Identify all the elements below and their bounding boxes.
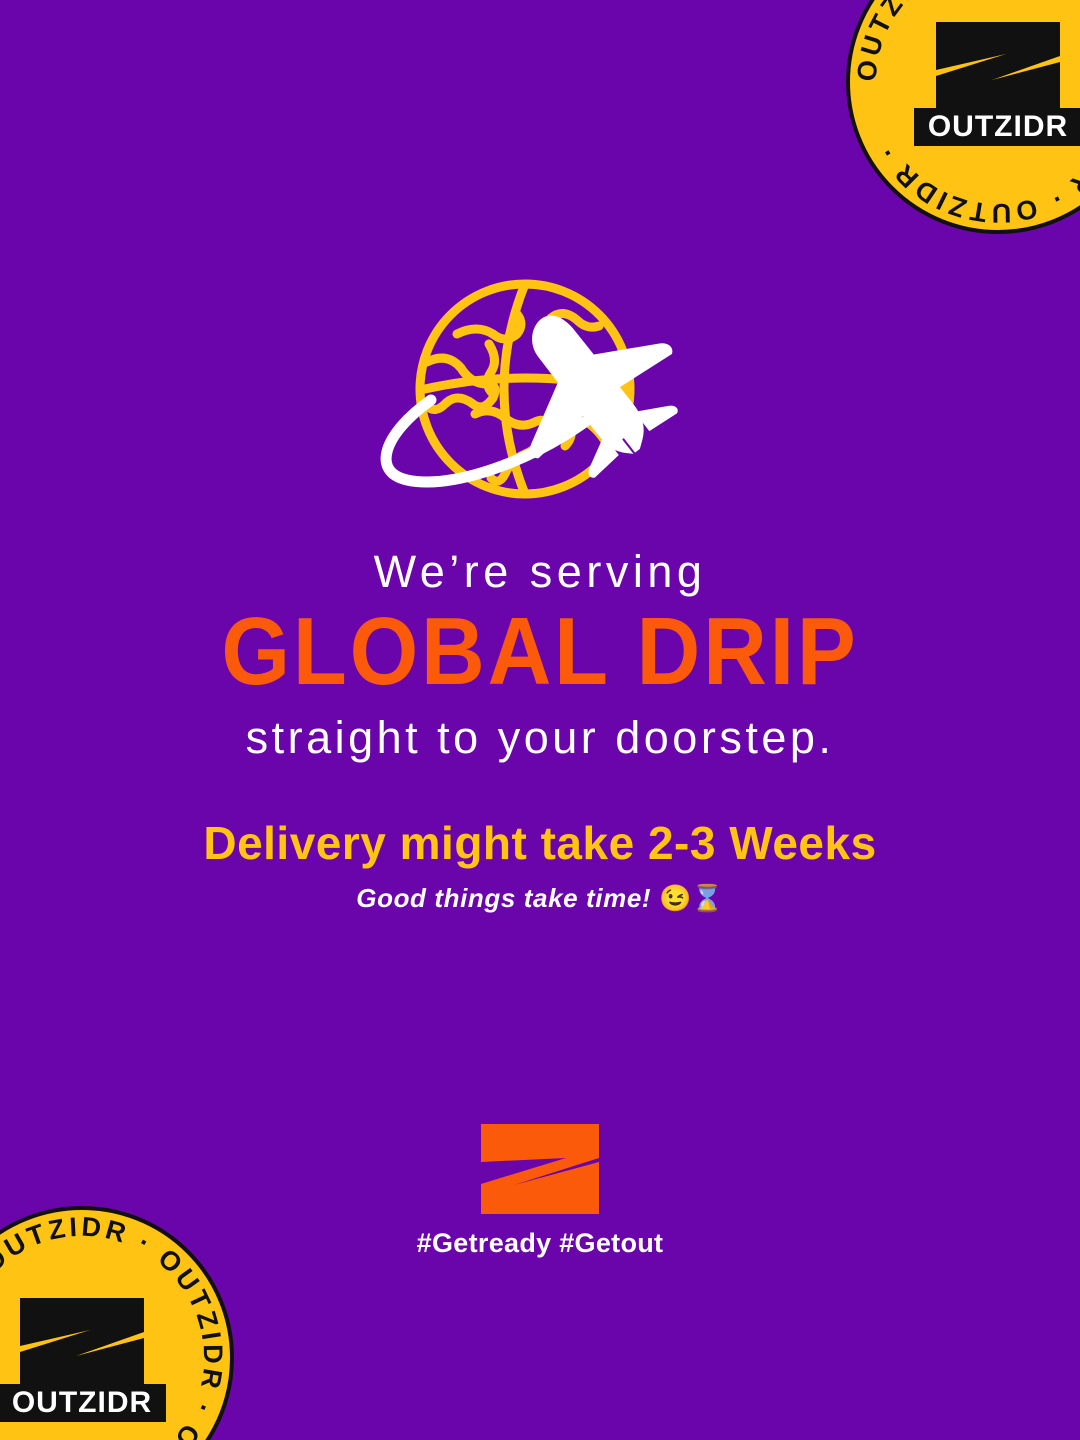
headline-block: We’re serving GLOBAL DRIP straight to yo… [0,548,1080,914]
badge-wordmark-text: OUTZIDR [928,110,1068,143]
poster-canvas: OUTZIDR · OUTZIDR · OUTZIDR · OUTZIDR · … [0,0,1080,1440]
headline-line-3: straight to your doorstep. [0,713,1080,763]
wink-hourglass-emoji: 😉⌛ [659,883,724,913]
headline-line-1: We’re serving [0,548,1080,597]
badge-wordmark: OUTZIDR [914,108,1080,146]
badge-wordmark-text: OUTZIDR [12,1386,152,1419]
badge-outzidr-top-right: OUTZIDR · OUTZIDR · OUTZIDR · OUTZIDR · … [838,0,1080,242]
badge-wordmark: OUTZIDR [0,1384,166,1422]
delivery-subtext-text: Good things take time! [356,883,651,913]
z-logo [478,1122,602,1216]
hashtags: #Getready #Getout [0,1228,1080,1259]
delivery-notice: Delivery might take 2-3 Weeks [0,818,1080,869]
headline-line-2: GLOBAL DRIP [43,603,1037,701]
footer-block: #Getready #Getout [0,1122,1080,1259]
delivery-subtext: Good things take time! 😉⌛ [0,883,1080,914]
globe-airplane-illustration [0,272,1080,512]
